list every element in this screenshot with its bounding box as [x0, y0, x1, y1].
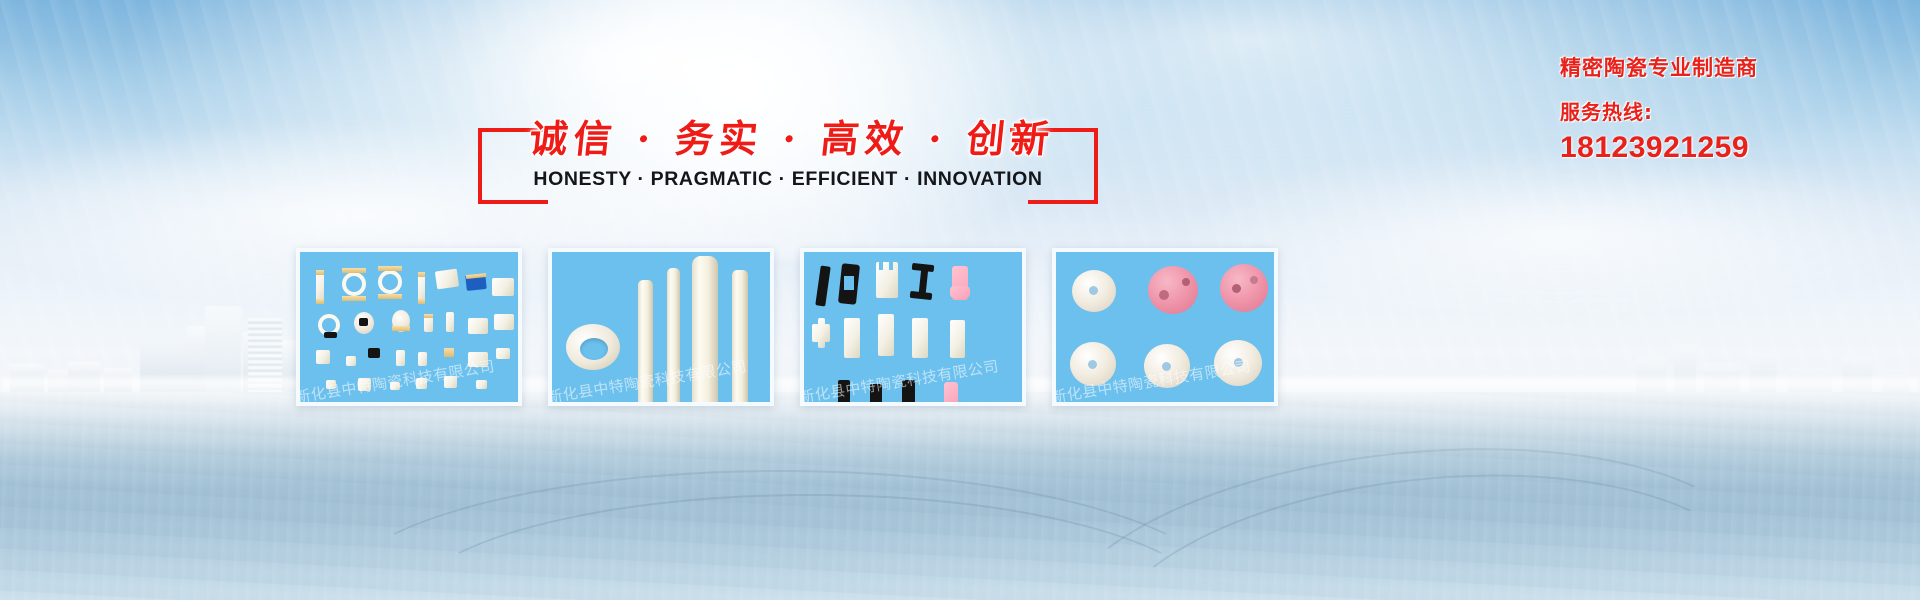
part-contact	[324, 332, 337, 338]
part	[446, 312, 454, 332]
card-canvas: 新化县中特陶瓷科技有限公司	[300, 252, 518, 402]
part-terminal	[418, 299, 425, 304]
part-rod	[732, 270, 748, 406]
part	[418, 352, 427, 366]
part-terminal	[342, 268, 366, 273]
card-canvas: 新化县中特陶瓷科技有限公司	[804, 252, 1022, 402]
part-terminal	[316, 270, 324, 275]
wet-reflection-sheen	[0, 392, 1920, 512]
hero-banner: 诚信 · 务实 · 高效 · 创新 HONESTY · PRAGMATIC · …	[0, 0, 1920, 600]
part-disc-hole	[1159, 290, 1169, 300]
part-smd	[494, 314, 514, 330]
part-disc-hole	[1162, 362, 1171, 371]
hotline-number[interactable]: 18123921259	[1560, 131, 1900, 165]
part-smd	[468, 352, 488, 367]
part	[358, 378, 371, 391]
part-pink	[950, 286, 970, 298]
part-smd	[435, 269, 459, 290]
part	[390, 382, 400, 390]
part-ring-bore	[580, 338, 608, 360]
part-disc-pink	[1220, 264, 1268, 312]
part-disc-hole	[1089, 286, 1098, 295]
part-block	[878, 314, 894, 356]
part-rod	[667, 268, 680, 406]
part-block	[912, 318, 928, 358]
part-terminal	[378, 266, 402, 271]
part-disc-hole	[1182, 278, 1190, 286]
part-terminal	[392, 326, 410, 331]
part-black	[368, 348, 380, 358]
part-terminal	[378, 294, 402, 299]
product-card-chip-components[interactable]: 新化县中特陶瓷科技有限公司	[296, 248, 522, 406]
part-black	[838, 380, 850, 406]
slogan-english: HONESTY · PRAGMATIC · EFFICIENT · INNOVA…	[530, 168, 1046, 191]
part	[346, 356, 356, 366]
part-black	[870, 384, 882, 406]
part-disc-hole	[1088, 360, 1097, 369]
part-black	[815, 265, 830, 306]
part	[496, 348, 510, 359]
part-terminal	[418, 272, 425, 277]
product-card-ceramic-discs[interactable]: 新化县中特陶瓷科技有限公司	[1052, 248, 1278, 406]
part	[416, 378, 427, 389]
product-card-ceramic-tubes[interactable]: 新化县中特陶瓷科技有限公司	[548, 248, 774, 406]
part-notch	[879, 260, 883, 270]
company-tagline: 精密陶瓷专业制造商	[1560, 52, 1900, 82]
part-rod-thick	[692, 256, 718, 406]
part-ring	[378, 270, 402, 294]
bracket-right-vertical	[1094, 128, 1098, 204]
bracket-right-bottom	[1028, 200, 1098, 204]
part-terminal	[444, 348, 454, 357]
part-ring	[342, 272, 366, 296]
part-block	[844, 318, 860, 358]
bracket-left-vertical	[478, 128, 482, 204]
part-notch	[889, 260, 893, 270]
part	[326, 380, 336, 389]
part-disc-hole	[1234, 358, 1243, 367]
part-disc-pink	[1148, 266, 1198, 314]
hotline-label: 服务热线:	[1560, 96, 1900, 125]
part-pink	[944, 382, 958, 406]
part-rod	[638, 280, 653, 406]
part-black	[919, 268, 929, 295]
part-disc-hole	[1250, 276, 1258, 284]
card-canvas: 新化县中特陶瓷科技有限公司	[552, 252, 770, 402]
slogan-block: 诚信 · 务实 · 高效 · 创新 HONESTY · PRAGMATIC · …	[478, 108, 1098, 218]
part	[396, 350, 405, 366]
part-block	[950, 320, 965, 358]
part-slot	[844, 276, 854, 290]
product-card-ceramic-blocks[interactable]: 新化县中特陶瓷科技有限公司	[800, 248, 1026, 406]
product-card-row: 新化县中特陶瓷科技有限公司 新化县中特陶瓷科技有限公司	[296, 248, 1580, 406]
part-contact	[359, 318, 368, 326]
card-canvas: 新化县中特陶瓷科技有限公司	[1056, 252, 1274, 402]
part-terminal	[424, 314, 433, 318]
slogan-chinese: 诚信 · 务实 · 高效 · 创新	[527, 108, 1049, 163]
bracket-left-bottom	[478, 200, 548, 204]
part-terminal	[316, 299, 324, 304]
part-terminal	[342, 296, 366, 301]
part-smd	[468, 318, 488, 334]
contact-block: 精密陶瓷专业制造商 服务热线: 18123921259	[1560, 52, 1900, 165]
part	[316, 350, 330, 364]
part-cross	[818, 318, 825, 348]
part-disc-hole	[1232, 284, 1241, 293]
part-black	[910, 291, 933, 300]
part-black	[902, 380, 915, 406]
part	[476, 380, 487, 389]
part	[444, 376, 457, 388]
part-smd	[492, 278, 514, 296]
